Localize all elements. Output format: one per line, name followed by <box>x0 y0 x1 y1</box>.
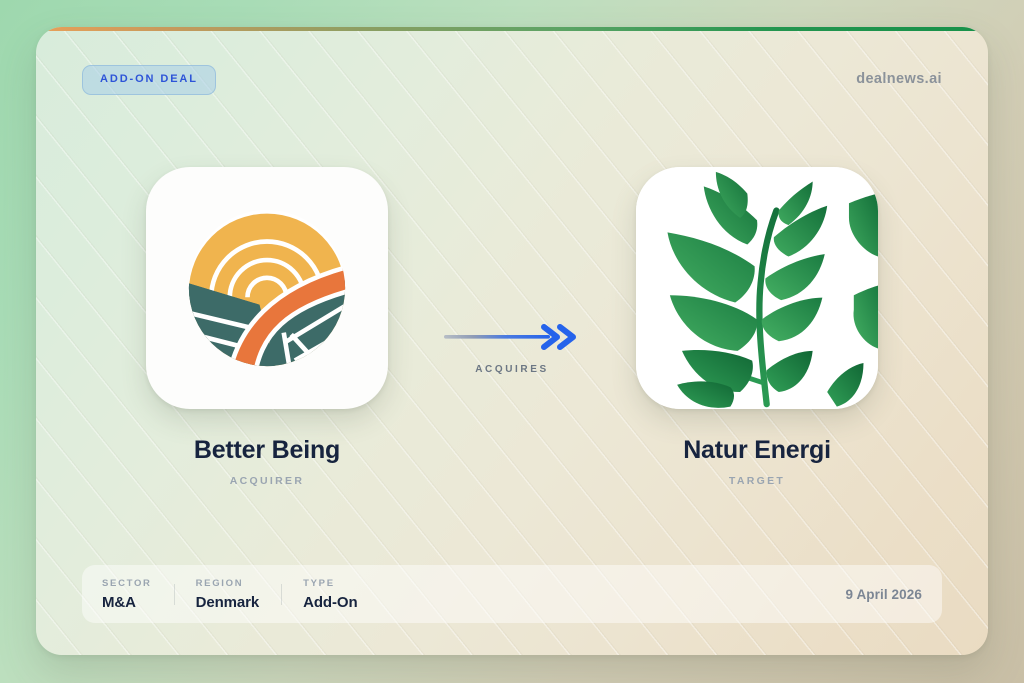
accent-bar <box>36 27 988 31</box>
sunrise-field-logo-icon <box>174 195 360 381</box>
target-party: Natur Energi TARGET <box>607 167 907 487</box>
relation-group: ACQUIRES <box>417 167 607 375</box>
meta-sector-value: M&A <box>102 594 152 611</box>
meta-region-value: Denmark <box>196 594 260 611</box>
relation-label: ACQUIRES <box>475 364 549 375</box>
deal-card: ADD-ON DEAL dealnews.ai <box>36 27 988 655</box>
meta-region-label: REGION <box>196 578 260 589</box>
acquirer-party: Better Being ACQUIRER <box>117 167 417 487</box>
acquirer-name: Better Being <box>194 436 340 465</box>
meta-type-label: TYPE <box>303 578 357 589</box>
meta-groups: SECTOR M&A REGION Denmark TYPE Add-On <box>102 578 380 611</box>
meta-region: REGION Denmark <box>174 578 282 611</box>
double-chevron-arrow-right-icon <box>444 322 580 352</box>
deal-card-canvas: ADD-ON DEAL dealnews.ai <box>0 0 1024 683</box>
leaf-branch-logo-icon <box>636 167 878 409</box>
brand-watermark: dealnews.ai <box>856 71 942 87</box>
deal-parties-stage: Better Being ACQUIRER <box>36 167 988 527</box>
acquirer-logo-tile <box>146 167 388 409</box>
meta-sector-label: SECTOR <box>102 578 152 589</box>
target-logo-tile <box>636 167 878 409</box>
meta-sector: SECTOR M&A <box>102 578 174 611</box>
deal-type-badge: ADD-ON DEAL <box>82 65 216 95</box>
meta-type: TYPE Add-On <box>281 578 379 611</box>
meta-type-value: Add-On <box>303 594 357 611</box>
deal-date: 9 April 2026 <box>846 587 923 602</box>
target-role-label: TARGET <box>729 475 785 487</box>
target-name: Natur Energi <box>683 436 831 465</box>
deal-meta-footer: SECTOR M&A REGION Denmark TYPE Add-On 9 … <box>82 565 942 623</box>
acquirer-role-label: ACQUIRER <box>230 475 304 487</box>
